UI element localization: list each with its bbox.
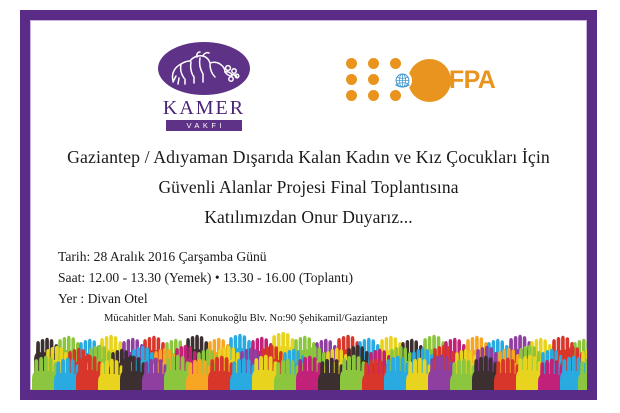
headline-block: Gaziantep / Adıyaman Dışarıda Kalan Kadı… <box>30 142 587 232</box>
kamer-wordmark: KAMER <box>148 98 260 119</box>
kamer-logo: KAMER VAKFI <box>148 42 260 131</box>
event-venue: Yer : Divan Otel <box>58 288 558 309</box>
event-date: Tarih: 28 Aralık 2016 Çarşamba Günü <box>58 246 558 267</box>
event-address: Mücahitler Mah. Sani Konukoğlu Blv. No:9… <box>58 309 558 328</box>
hands-svg <box>30 332 587 390</box>
kamer-subtitle: VAKFI <box>166 120 242 131</box>
headline-line-2: Güvenli Alanlar Projesi Final Toplantısı… <box>30 172 587 202</box>
invitation-poster: KAMER VAKFI <box>0 0 620 413</box>
event-details-block: Tarih: 28 Aralık 2016 Çarşamba Günü Saat… <box>58 246 558 328</box>
event-time: Saat: 12.00 - 13.30 (Yemek) • 13.30 - 16… <box>58 267 558 288</box>
headline-line-3: Katılımızdan Onur Duyarız... <box>30 202 587 232</box>
unfpa-logo: UNFPA <box>346 56 496 104</box>
unfpa-wordmark: UNFPA <box>414 66 495 94</box>
un-globe-icon <box>393 71 412 90</box>
kamer-oval-badge <box>158 42 250 95</box>
headline-line-1: Gaziantep / Adıyaman Dışarıda Kalan Kadı… <box>30 142 587 172</box>
lion-emblem-icon <box>167 49 241 89</box>
logo-row: KAMER VAKFI <box>30 30 587 130</box>
raised-hands-illustration <box>30 332 587 390</box>
